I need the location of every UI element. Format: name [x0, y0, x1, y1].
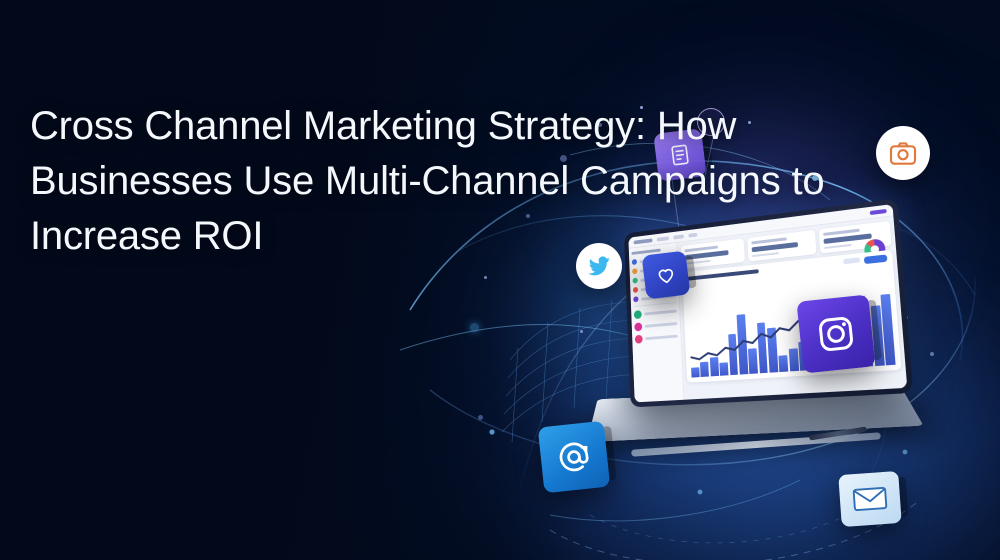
avatar	[634, 322, 642, 331]
topbar-nav-item[interactable]	[688, 232, 697, 237]
topbar-action-button[interactable]	[870, 208, 887, 214]
list-item[interactable]	[634, 319, 677, 331]
particle	[748, 121, 751, 124]
particle	[470, 323, 479, 332]
list-item-label	[644, 310, 677, 316]
kpi-card[interactable]	[748, 230, 816, 261]
chart-filter-button[interactable]	[843, 257, 860, 264]
at-mention-icon[interactable]	[538, 421, 611, 494]
particle	[478, 415, 483, 420]
particle	[598, 123, 602, 127]
twitter-icon[interactable]	[576, 243, 622, 289]
heart-icon[interactable]	[641, 250, 690, 299]
ring-node-icon	[697, 108, 725, 136]
list-item-label	[645, 322, 678, 328]
chart-primary-button[interactable]	[864, 254, 888, 264]
avatar	[633, 287, 638, 293]
instagram-icon[interactable]	[796, 294, 875, 373]
particle	[580, 330, 583, 333]
avatar	[633, 296, 638, 302]
particle	[930, 352, 934, 356]
topbar-nav-item[interactable]	[673, 234, 684, 239]
particle	[484, 276, 487, 279]
list-item[interactable]	[634, 307, 677, 320]
particle	[640, 106, 643, 109]
avatar	[634, 310, 642, 319]
avatar	[635, 335, 643, 344]
kpi-card[interactable]	[818, 221, 891, 254]
camera-icon[interactable]	[876, 126, 930, 180]
list-item-label	[645, 335, 678, 341]
avatar	[632, 259, 637, 265]
kpi-sublabel	[752, 252, 778, 257]
list-item[interactable]	[635, 332, 678, 344]
hero-banner: Cross Channel Marketing Strategy: How Bu…	[0, 0, 1000, 560]
avatar	[632, 278, 637, 284]
kpi-sublabel	[824, 244, 852, 249]
chart-title	[687, 269, 759, 281]
email-icon[interactable]	[838, 471, 901, 527]
topbar-logo	[634, 238, 653, 244]
particle	[526, 214, 530, 218]
particle	[560, 155, 567, 162]
divider	[634, 302, 677, 307]
avatar	[632, 268, 637, 274]
topbar-nav-item[interactable]	[657, 236, 669, 241]
document-icon[interactable]	[653, 128, 706, 181]
